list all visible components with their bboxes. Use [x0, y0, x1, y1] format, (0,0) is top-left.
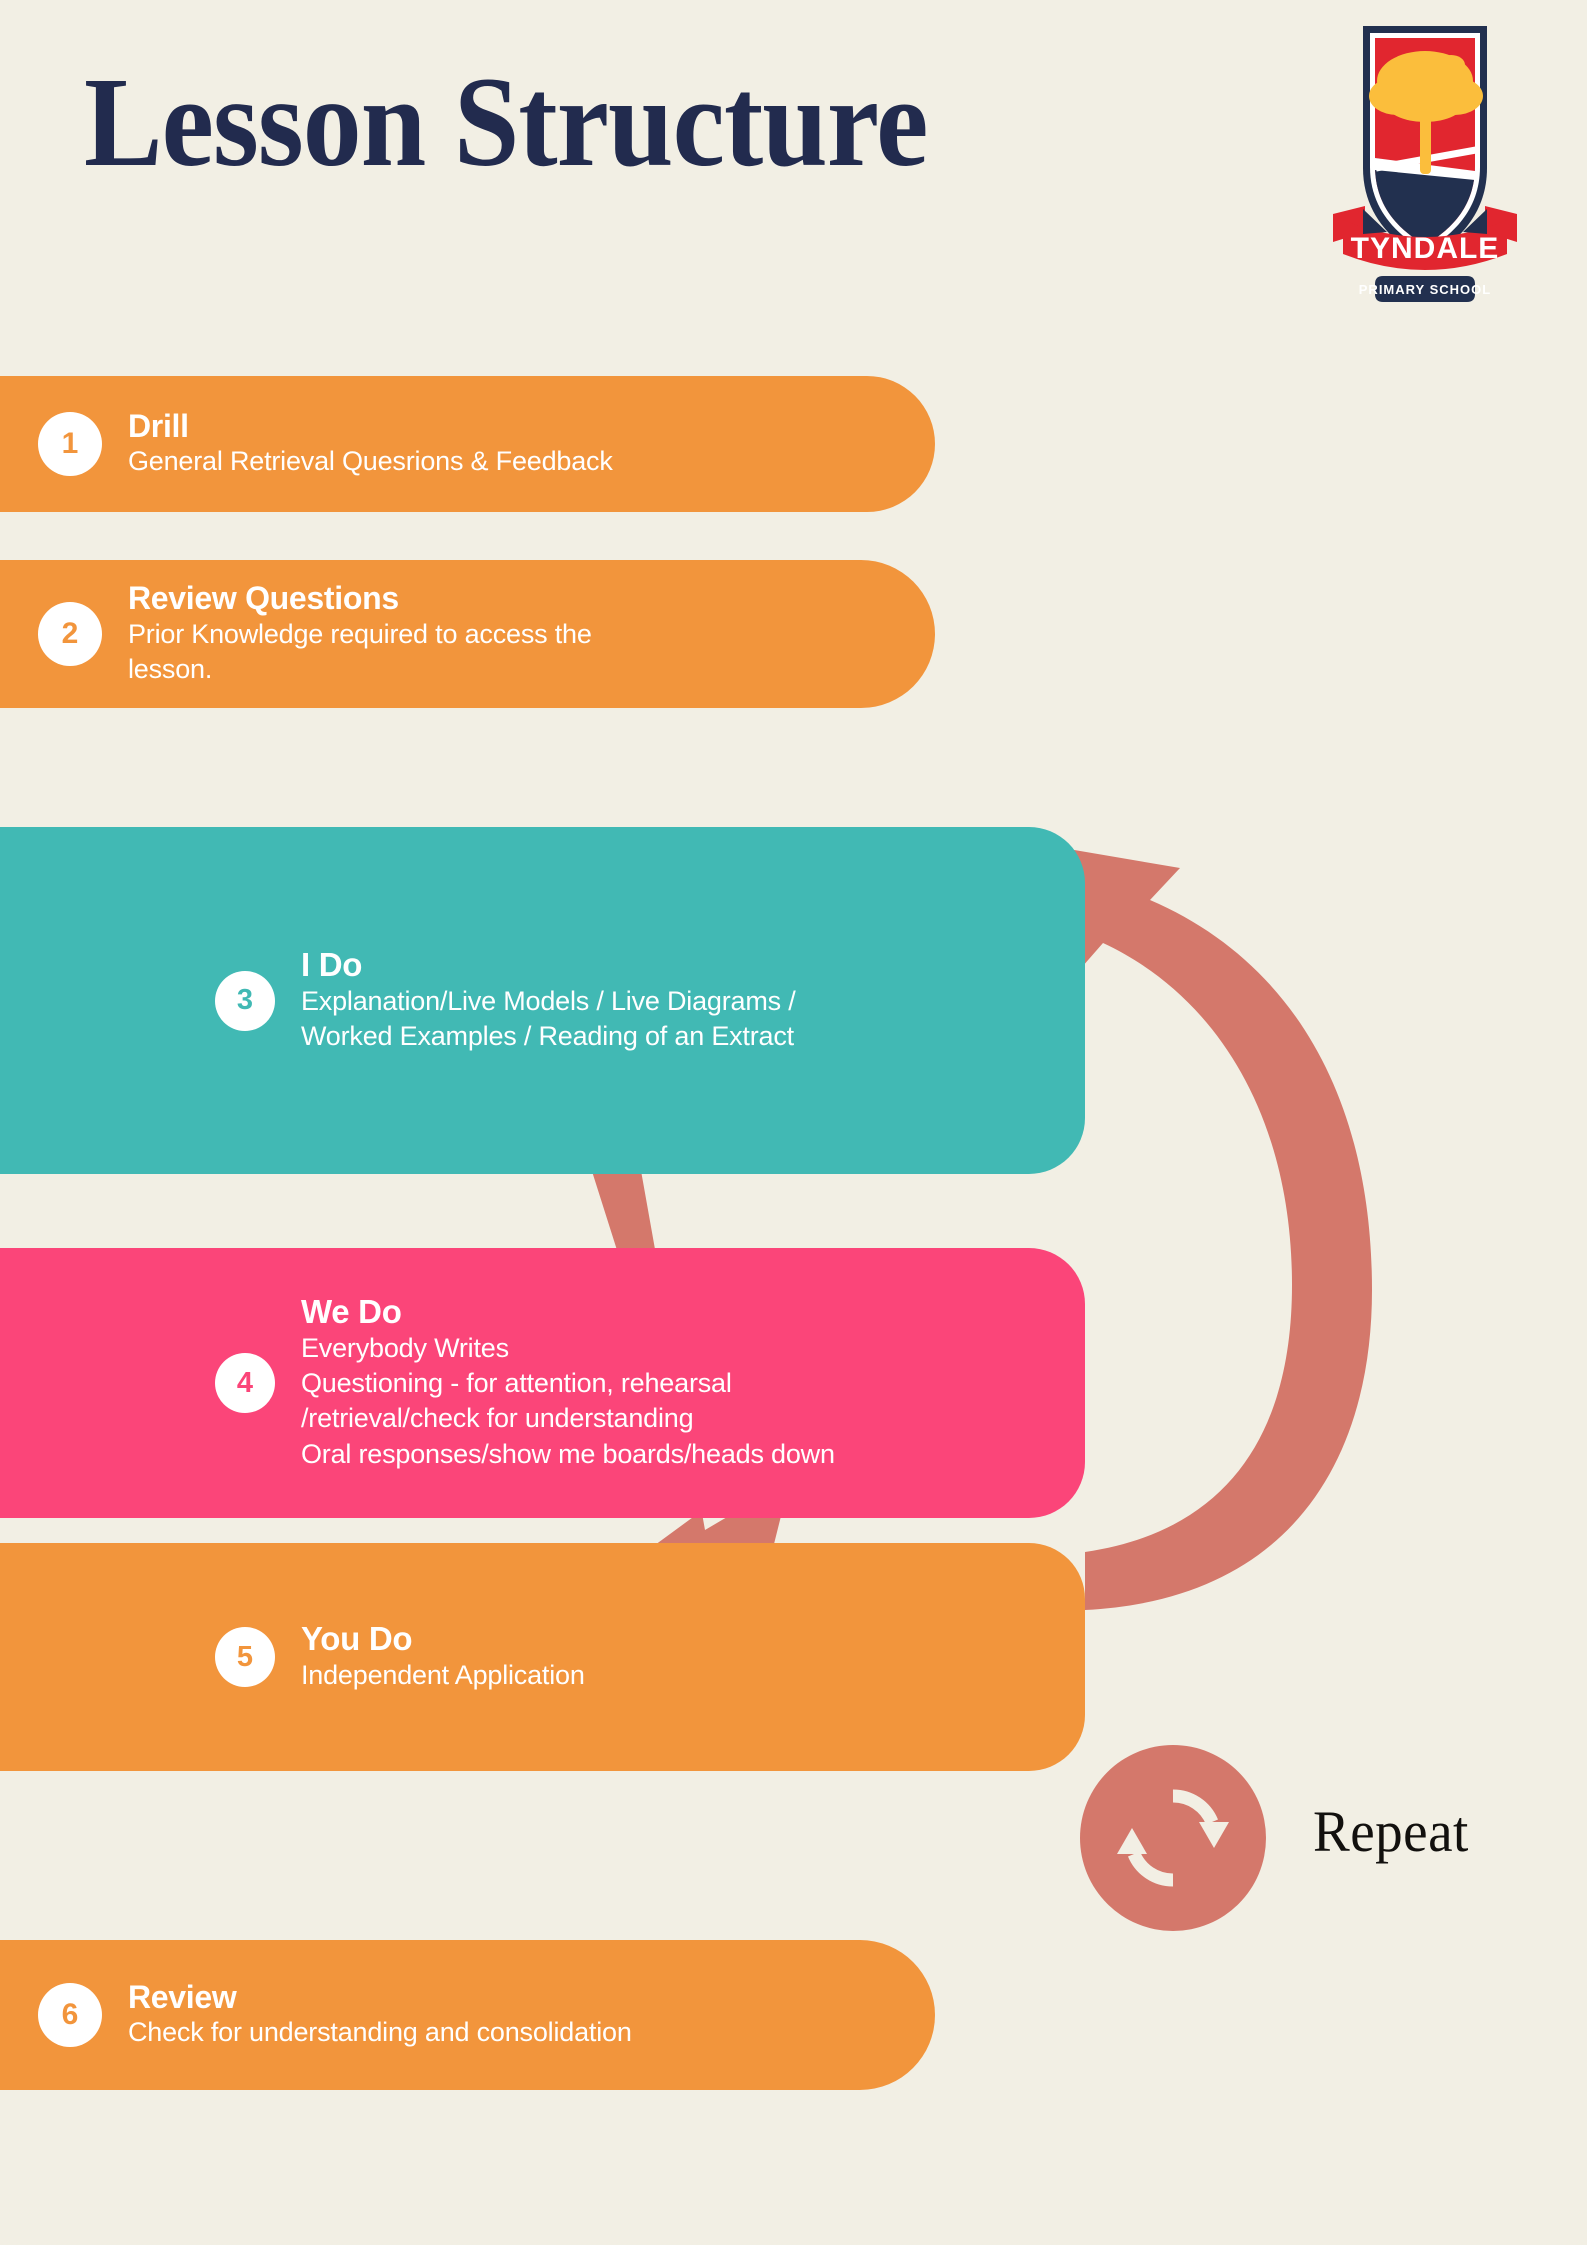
crest-icon: TYNDALE PRIMARY SCHOOL	[1325, 18, 1525, 328]
step-4-heading: We Do	[301, 1294, 835, 1331]
step-6-number: 6	[38, 1983, 102, 2047]
step-2-text: Review Questions Prior Knowledge require…	[128, 581, 592, 687]
step-3-subtext: Explanation/Live Models / Live Diagrams …	[301, 984, 796, 1054]
repeat-badge[interactable]	[1080, 1745, 1266, 1931]
step-2-review-questions[interactable]: 2 Review Questions Prior Knowledge requi…	[0, 560, 935, 708]
step-3-heading: I Do	[301, 947, 796, 984]
step-5-text: You Do Independent Application	[301, 1621, 585, 1693]
step-6-review[interactable]: 6 Review Check for understanding and con…	[0, 1940, 935, 2090]
step-2-heading: Review Questions	[128, 581, 592, 617]
step-4-subtext: Everybody Writes Questioning - for atten…	[301, 1331, 835, 1471]
step-5-subtext: Independent Application	[301, 1658, 585, 1693]
step-2-number: 2	[38, 602, 102, 666]
logo-school-subtitle: PRIMARY SCHOOL	[1359, 282, 1491, 297]
step-3-number: 3	[215, 971, 275, 1031]
step-1-drill[interactable]: 1 Drill General Retrieval Quesrions & Fe…	[0, 376, 935, 512]
step-5-number: 5	[215, 1627, 275, 1687]
step-1-heading: Drill	[128, 409, 613, 445]
school-logo: TYNDALE PRIMARY SCHOOL	[1325, 18, 1525, 328]
step-1-subtext: General Retrieval Quesrions & Feedback	[128, 444, 613, 479]
step-1-number: 1	[38, 412, 102, 476]
poster-canvas: Lesson Structure	[0, 0, 1587, 2245]
step-3-i-do[interactable]: 3 I Do Explanation/Live Models / Live Di…	[0, 827, 1085, 1174]
step-5-heading: You Do	[301, 1621, 585, 1658]
step-6-heading: Review	[128, 1980, 632, 2016]
step-4-text: We Do Everybody Writes Questioning - for…	[301, 1294, 835, 1471]
step-1-text: Drill General Retrieval Quesrions & Feed…	[128, 409, 613, 480]
step-3-text: I Do Explanation/Live Models / Live Diag…	[301, 947, 796, 1054]
logo-school-name: TYNDALE	[1351, 232, 1500, 265]
step-5-you-do[interactable]: 5 You Do Independent Application	[0, 1543, 1085, 1771]
page-title: Lesson Structure	[84, 55, 927, 189]
step-2-subtext: Prior Knowledge required to access the l…	[128, 617, 592, 687]
step-6-subtext: Check for understanding and consolidatio…	[128, 2015, 632, 2050]
step-4-number: 4	[215, 1353, 275, 1413]
loop-arrow-icon	[1045, 845, 1372, 1610]
step-4-we-do[interactable]: 4 We Do Everybody Writes Questioning - f…	[0, 1248, 1085, 1518]
refresh-cycle-icon	[1113, 1778, 1233, 1898]
repeat-label: Repeat	[1313, 1798, 1469, 1865]
step-6-text: Review Check for understanding and conso…	[128, 1980, 632, 2051]
